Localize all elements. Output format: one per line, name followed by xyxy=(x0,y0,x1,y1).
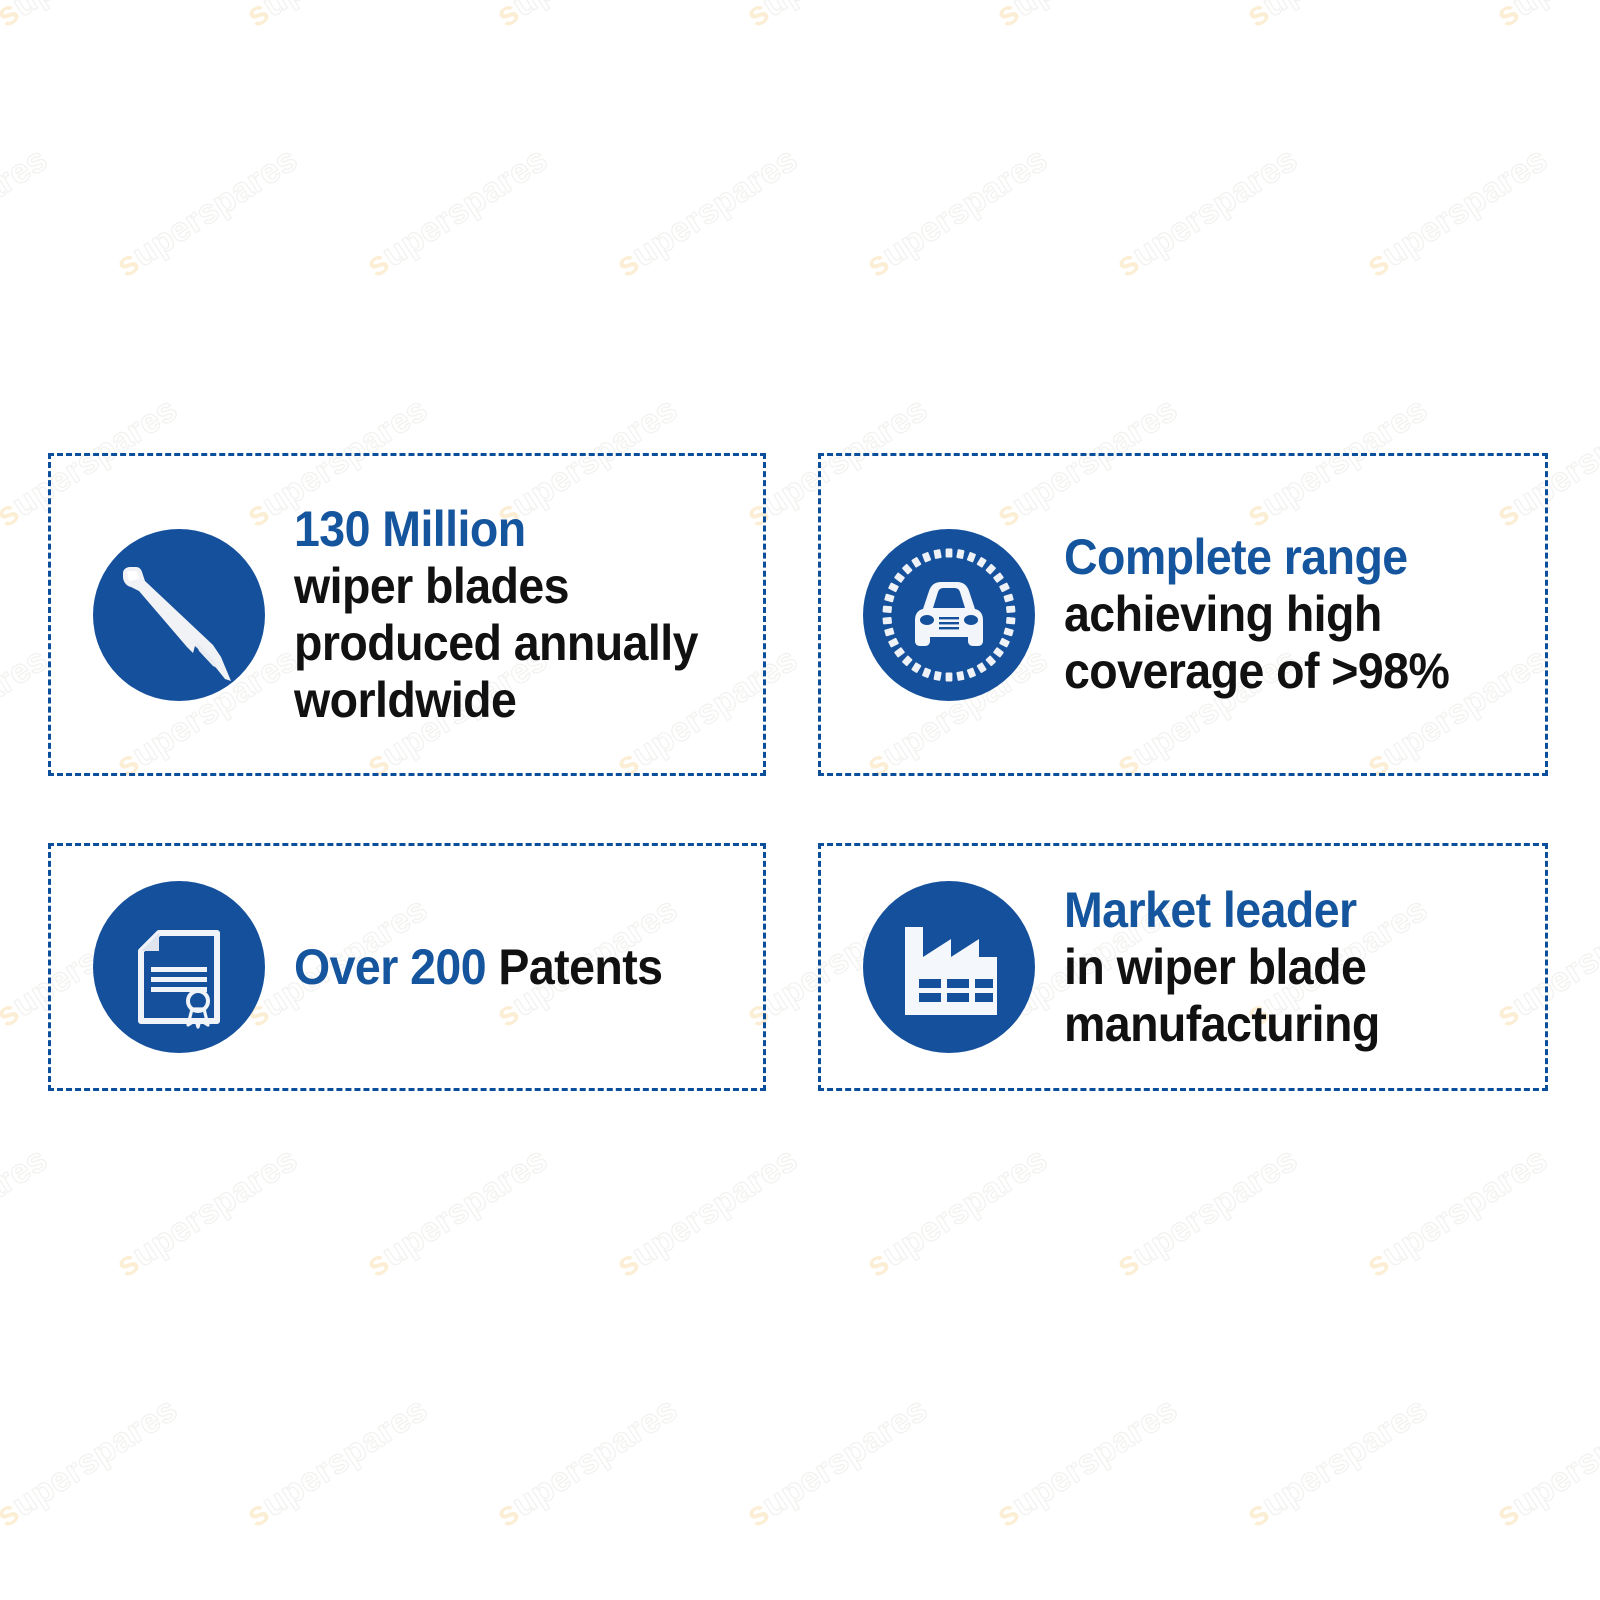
fact-line-4: worldwide xyxy=(294,672,721,729)
fact-card-wiper-blades-produced[interactable]: 130 Million wiper blades produced annual… xyxy=(48,453,766,776)
fact-line-2: wiper blades xyxy=(294,558,721,615)
fact-line-3: manufacturing xyxy=(1064,996,1502,1053)
fact-line-2: achieving high xyxy=(1064,586,1502,643)
fact-text-block: Complete range achieving high coverage o… xyxy=(1056,529,1545,700)
fact-line-1: Over 200 Patents xyxy=(294,939,721,996)
certificate-icon xyxy=(71,881,286,1053)
wiper-blade-icon xyxy=(71,529,286,701)
patents-label: Patents xyxy=(486,939,662,995)
fact-cards-grid: 130 Million wiper blades produced annual… xyxy=(0,0,1600,1600)
patents-count-value: Over 200 xyxy=(294,939,486,995)
fact-line-3: coverage of >98% xyxy=(1064,643,1502,700)
fact-line-1: 130 Million xyxy=(294,501,721,558)
fact-line-3: produced annually xyxy=(294,615,721,672)
fact-line-1: Complete range xyxy=(1064,529,1502,586)
fact-card-market-leader-manufacturing[interactable]: Market leader in wiper blade manufacturi… xyxy=(818,843,1548,1091)
fact-card-patents-count[interactable]: Over 200 Patents xyxy=(48,843,766,1091)
infographic-canvas: supersparessupersparessupersparessupersp… xyxy=(0,0,1600,1600)
fact-card-complete-range-coverage[interactable]: Complete range achieving high coverage o… xyxy=(818,453,1548,776)
factory-icon xyxy=(841,881,1056,1053)
fact-text-block: 130 Million wiper blades produced annual… xyxy=(286,501,763,729)
fact-text-block: Market leader in wiper blade manufacturi… xyxy=(1056,882,1545,1053)
fact-line-1: Market leader xyxy=(1064,882,1502,939)
fact-text-block: Over 200 Patents xyxy=(286,939,763,996)
fact-line-2: in wiper blade xyxy=(1064,939,1502,996)
car-coverage-icon xyxy=(841,529,1056,701)
